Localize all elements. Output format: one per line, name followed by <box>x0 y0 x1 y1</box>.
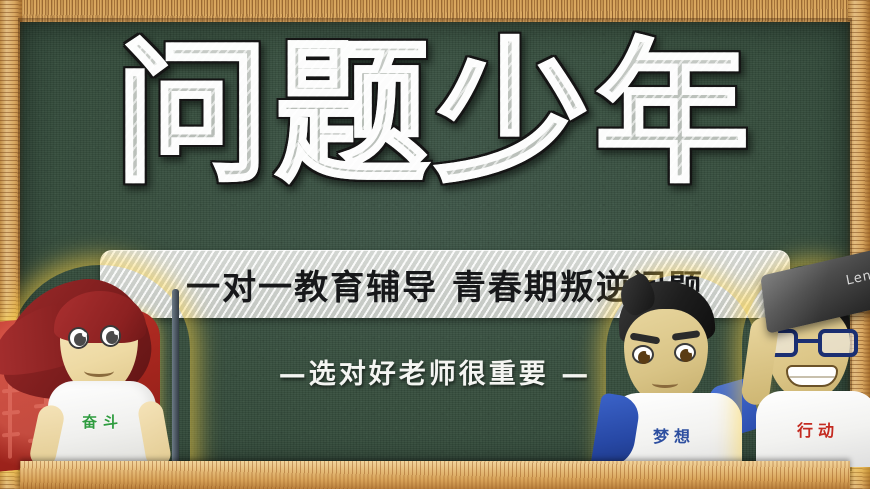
girl-eye-glint-left <box>82 332 87 337</box>
glasses-lens-right <box>818 329 858 357</box>
girl-shirt-text: 奋斗 <box>66 411 140 432</box>
poster-canvas: 问题少年 一对一教育辅导 青春期叛逆问题 —选对好老师很重要 — <box>0 0 870 489</box>
character-girl-with-flag: 奋斗 <box>0 265 211 465</box>
boy-action-shirt-text: 行动 <box>778 417 858 441</box>
boy-dream-mouth <box>652 379 678 388</box>
page-title: 问题少年 <box>0 34 870 196</box>
character-boy-action: 行动 Lenovo <box>740 265 870 465</box>
chalk-ledge <box>20 461 850 489</box>
boy-dream-eye-glint-right <box>688 348 693 353</box>
boy-dream-eye-left <box>632 345 654 364</box>
boy-action-teeth-line <box>788 376 836 378</box>
flag-pole <box>172 289 179 469</box>
girl-eye-right <box>100 325 121 347</box>
boy-dream-shirt-text: 梦想 <box>634 423 714 447</box>
glasses-bridge <box>798 339 818 343</box>
laptop-brand-label: Lenovo <box>845 262 870 289</box>
boy-action-grin <box>786 365 838 387</box>
girl-smile <box>84 365 114 377</box>
boy-dream-eye-glint-left <box>646 350 651 355</box>
girl-eye-left <box>68 327 89 349</box>
girl-eye-glint-right <box>114 330 119 335</box>
boy-dream-eye-right <box>674 343 696 362</box>
